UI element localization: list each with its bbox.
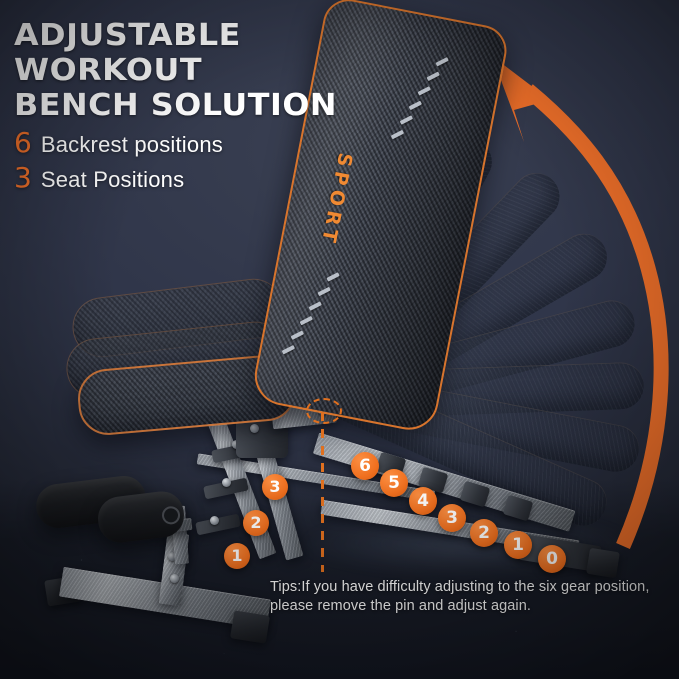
feature-seat-count: 3 xyxy=(14,163,32,193)
feature-seat: 3 Seat Positions xyxy=(14,163,414,193)
backrest-position-badge-3: 3 xyxy=(438,504,466,532)
feature-backrest: 6 Backrest positions xyxy=(14,128,414,158)
base-endcap-right xyxy=(230,610,270,643)
seat-position-badge-3: 3 xyxy=(262,474,288,500)
headline-line-2: BENCH SOLUTION xyxy=(14,88,438,123)
backrest-position-badge-1: 1 xyxy=(504,531,532,559)
headline-block: ADJUSTABLE WORKOUT BENCH SOLUTION 6 Back… xyxy=(14,18,414,193)
seat-position-badge-1: 1 xyxy=(224,543,250,569)
backrest-position-badge-6: 6 xyxy=(351,452,379,480)
backrest-position-badge-2: 2 xyxy=(470,519,498,547)
headline-line-1: ADJUSTABLE WORKOUT xyxy=(14,18,438,88)
pivot-bolt xyxy=(250,424,259,433)
roller-endcap xyxy=(161,505,181,525)
callout-dashed-line xyxy=(321,412,324,572)
tips-text: Tips:If you have difficulty adjusting to… xyxy=(270,578,660,616)
backrest-position-badge-4: 4 xyxy=(409,487,437,515)
base-bolt xyxy=(170,574,179,583)
rear-endcap xyxy=(586,548,620,578)
product-marketing-image: SPORT 3 2 1 6 5 4 3 2 1 0 ADJUSTABLE WOR… xyxy=(0,0,679,679)
feature-backrest-count: 6 xyxy=(14,128,32,158)
feature-backrest-label: Backrest positions xyxy=(41,132,223,158)
backrest-position-badge-0: 0 xyxy=(538,545,566,573)
backrest-position-badge-5: 5 xyxy=(380,469,408,497)
ladder-bolt xyxy=(222,478,231,487)
ladder-bolt xyxy=(210,516,219,525)
pin-highlight-ring xyxy=(306,398,342,424)
feature-seat-label: Seat Positions xyxy=(41,167,184,193)
seat-position-badge-2: 2 xyxy=(243,510,269,536)
